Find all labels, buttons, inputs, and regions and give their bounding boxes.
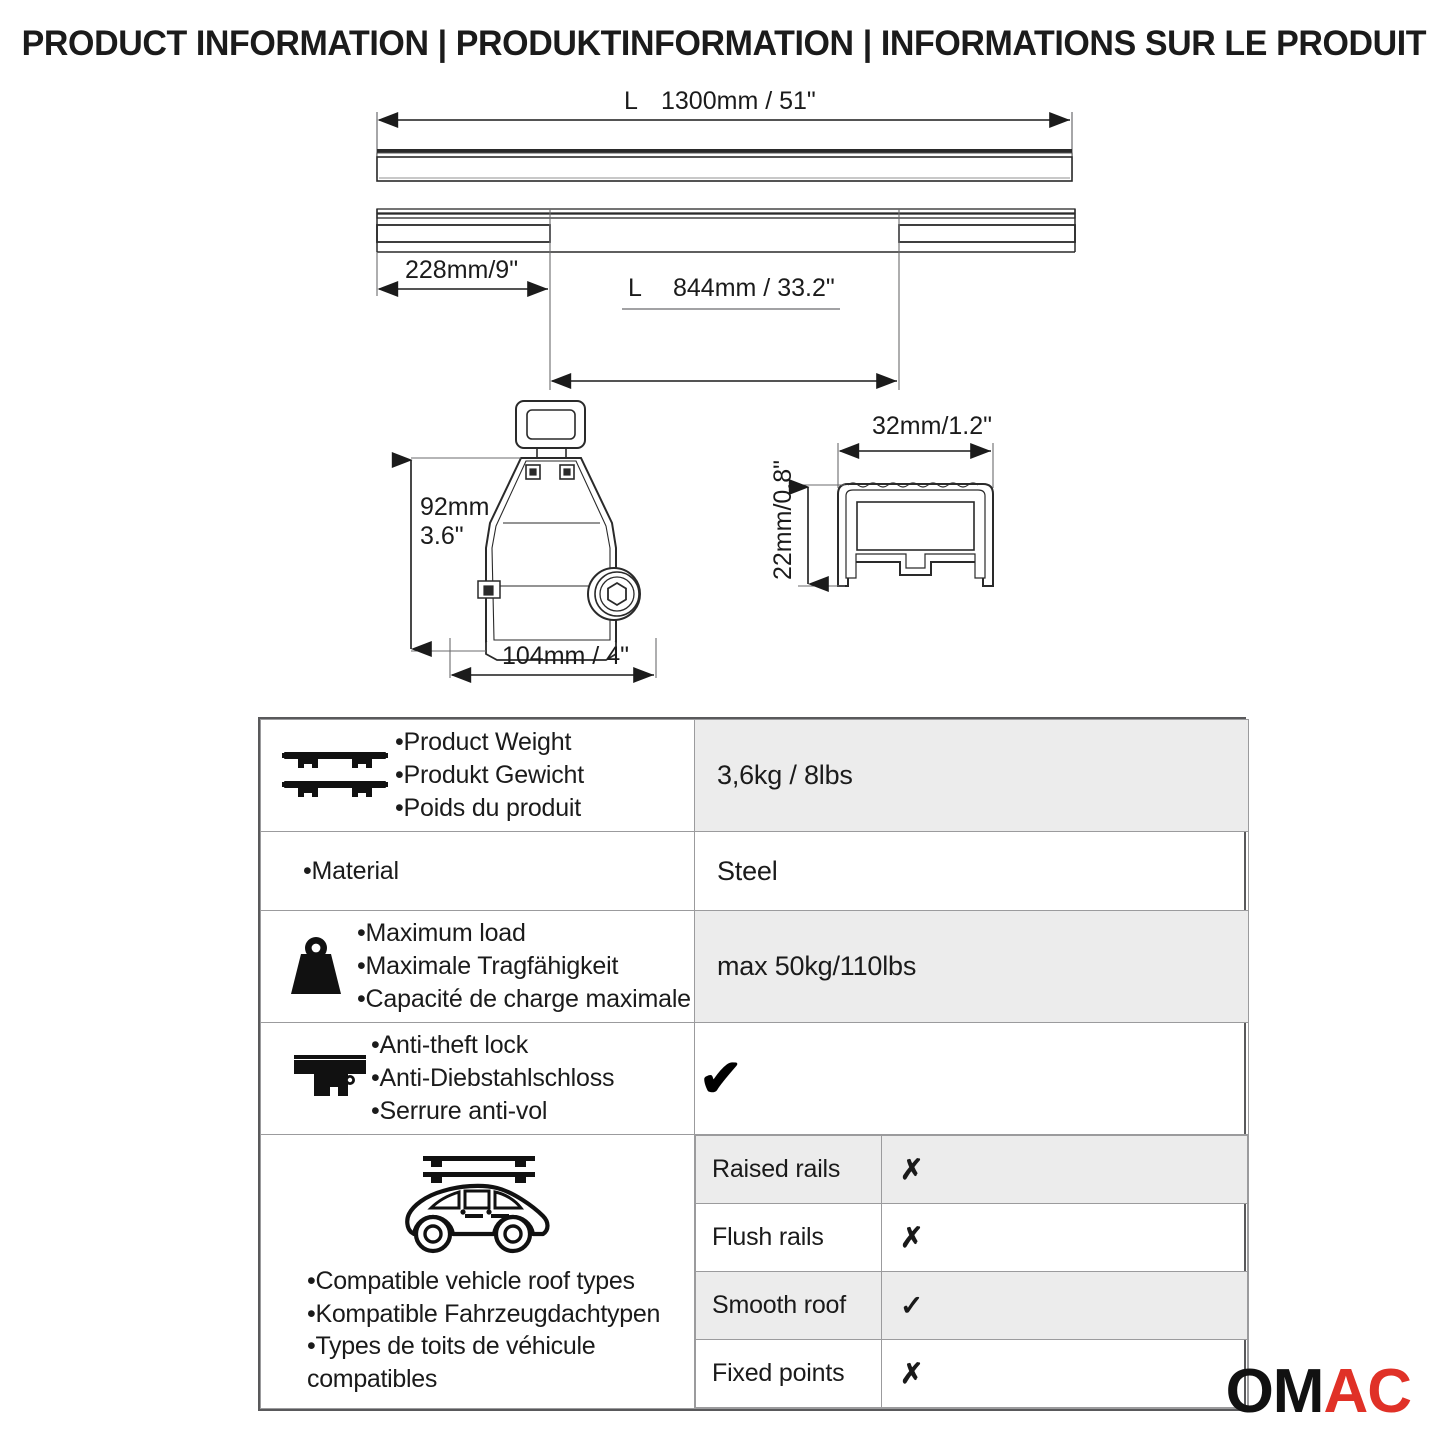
technical-drawing: L 1300mm / 51" 228mm/9" L 844mm / 33.2"	[0, 78, 1445, 703]
label-line: •Compatible vehicle roof types	[307, 1265, 686, 1298]
spec-labels-compatibility: •Compatible vehicle roof types •Kompatib…	[269, 1259, 686, 1395]
car-with-crossbars-icon	[397, 1150, 559, 1259]
spec-labels-lock: •Anti-theft lock •Anti-Diebstahlschloss …	[371, 1029, 690, 1128]
compatibility-options-cell: Raised rails ✗ Flush rails ✗ Smooth roof…	[695, 1135, 1249, 1409]
spec-value-material: Steel	[695, 846, 1248, 897]
spec-label-cell-weight: •Product Weight •Produkt Gewicht •Poids …	[261, 720, 695, 832]
lock-bar-icon-svg	[292, 1053, 368, 1105]
page-title: PRODUCT INFORMATION | PRODUKTINFORMATION…	[0, 24, 1445, 64]
label-line: •Serrure anti-vol	[371, 1095, 690, 1128]
option-name-smooth-roof: Smooth roof	[696, 1272, 882, 1340]
spec-value-lock-checkmark: ✔	[695, 1043, 1248, 1115]
weight-icon	[275, 934, 357, 1000]
two-crossbars-icon	[275, 746, 395, 806]
dimension-label-end-offset: 228mm/9"	[405, 256, 518, 284]
list-item: Fixed points ✗	[696, 1340, 1248, 1408]
omac-logo-ac: AC	[1323, 1357, 1411, 1426]
lock-cylinder-icon	[588, 568, 640, 620]
dimension-label-profile-width: 32mm/1.2"	[872, 412, 992, 440]
car-with-crossbars-icon-svg	[397, 1150, 559, 1254]
spec-label-cell-material: •Material	[261, 832, 695, 911]
table-row: •Compatible vehicle roof types •Kompatib…	[261, 1135, 1249, 1409]
label-line: •Poids du produit	[395, 792, 690, 825]
option-name-raised-rails: Raised rails	[696, 1136, 882, 1204]
option-mark-smooth-roof: ✓	[882, 1272, 1248, 1340]
drawing-svg: L 1300mm / 51" 228mm/9" L 844mm / 33.2"	[0, 78, 1445, 703]
spec-value-max-load: max 50kg/110lbs	[695, 941, 1248, 992]
page-title-text: PRODUCT INFORMATION | PRODUKTINFORMATION…	[22, 24, 1424, 64]
label-line: •Kompatible Fahrzeugdachtypen	[307, 1298, 686, 1331]
dimension-label-profile-height: 22mm/0.8"	[769, 460, 797, 580]
label-line: •Anti-theft lock	[371, 1029, 690, 1062]
crossbar-side-view	[377, 149, 1072, 181]
label-line: •Material	[303, 855, 690, 888]
dimension-label-foot-height-mm: 92mm	[420, 493, 489, 521]
list-item: Flush rails ✗	[696, 1204, 1248, 1272]
table-row: •Maximum load •Maximale Tragfähigkeit •C…	[261, 911, 1249, 1023]
compatibility-options-table: Raised rails ✗ Flush rails ✗ Smooth roof…	[695, 1135, 1248, 1408]
label-line: •Product Weight	[395, 726, 690, 759]
label-line: •Capacité de charge maximale	[357, 983, 691, 1016]
table-row: •Material Steel	[261, 832, 1249, 911]
lock-bar-icon	[275, 1053, 385, 1105]
spec-value-cell-max-load: max 50kg/110lbs	[695, 911, 1249, 1023]
dimension-label-total-length: 1300mm / 51"	[661, 87, 816, 115]
dimension-label-spread-L: L	[628, 274, 642, 302]
spec-labels-max-load: •Maximum load •Maximale Tragfähigkeit •C…	[357, 917, 691, 1016]
spec-label-cell-max-load: •Maximum load •Maximale Tragfähigkeit •C…	[261, 911, 695, 1023]
weight-icon-svg	[283, 934, 349, 1000]
dimension-label-spread: 844mm / 33.2"	[673, 274, 835, 302]
omac-logo-om: OM	[1226, 1357, 1324, 1426]
foot-front-view	[478, 401, 616, 672]
spec-value-cell-material: Steel	[695, 832, 1249, 911]
spec-labels-weight: •Product Weight •Produkt Gewicht •Poids …	[395, 726, 690, 825]
list-item: Smooth roof ✓	[696, 1272, 1248, 1340]
bar-cross-section	[838, 483, 993, 586]
dimension-label-foot-height-in: 3.6"	[420, 522, 464, 550]
option-mark-raised-rails: ✗	[882, 1136, 1248, 1204]
label-line: •Maximale Tragfähigkeit	[357, 950, 691, 983]
label-line: •Maximum load	[357, 917, 691, 950]
spec-label-cell-compatibility: •Compatible vehicle roof types •Kompatib…	[261, 1135, 695, 1409]
option-name-flush-rails: Flush rails	[696, 1204, 882, 1272]
crossbar-bottom-view	[377, 209, 1075, 252]
label-line: •Types de toits de véhicule compatibles	[307, 1330, 686, 1395]
spec-value-cell-weight: 3,6kg / 8lbs	[695, 720, 1249, 832]
dimension-label-foot-width: 104mm / 4"	[502, 642, 629, 670]
specification-table: •Product Weight •Produkt Gewicht •Poids …	[258, 717, 1246, 1411]
two-crossbars-icon-svg	[282, 746, 388, 806]
spec-value-weight: 3,6kg / 8lbs	[695, 750, 1248, 801]
spec-labels-material: •Material	[275, 855, 690, 888]
omac-logo: OMAC	[1226, 1361, 1411, 1423]
spec-value-cell-lock: ✔	[695, 1023, 1249, 1135]
table-row: •Anti-theft lock •Anti-Diebstahlschloss …	[261, 1023, 1249, 1135]
option-mark-fixed-points: ✗	[882, 1340, 1248, 1408]
list-item: Raised rails ✗	[696, 1136, 1248, 1204]
dimension-label-total-length-L: L	[624, 87, 638, 115]
option-mark-flush-rails: ✗	[882, 1204, 1248, 1272]
table-row: •Product Weight •Produkt Gewicht •Poids …	[261, 720, 1249, 832]
option-name-fixed-points: Fixed points	[696, 1340, 882, 1408]
label-line: •Produkt Gewicht	[395, 759, 690, 792]
spec-label-cell-lock: •Anti-theft lock •Anti-Diebstahlschloss …	[261, 1023, 695, 1135]
label-line: •Anti-Diebstahlschloss	[371, 1062, 690, 1095]
